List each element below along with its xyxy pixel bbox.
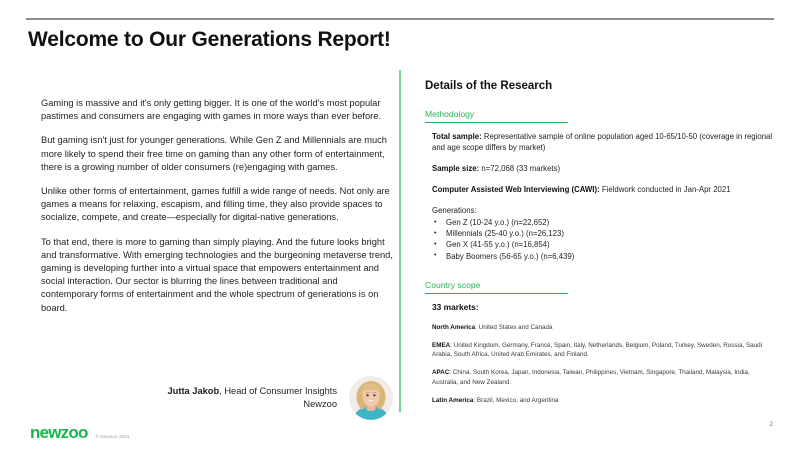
total-sample-label: Total sample:: [432, 132, 482, 141]
intro-paragraph: But gaming isn't just for younger genera…: [41, 134, 393, 174]
generations-title: Generations:: [432, 205, 775, 216]
sample-size-label: Sample size:: [432, 164, 479, 173]
intro-paragraph: Gaming is massive and it's only getting …: [41, 97, 393, 123]
header-divider-rule: [26, 18, 774, 20]
newzoo-logo: newzoo © Newzoo 2021: [30, 424, 130, 441]
author-name: Jutta Jakob: [168, 386, 220, 396]
avatar: [349, 376, 393, 420]
list-item: Baby Boomers (56-65 y.o.) (n=6,439): [432, 251, 775, 262]
region-row: Latin America: Brazil, Mexico, and Argen…: [432, 396, 775, 405]
region-name: APAC: [432, 369, 449, 376]
copyright-notice: © Newzoo 2021: [96, 434, 130, 439]
intro-text-column: Gaming is massive and it's only getting …: [41, 97, 393, 315]
methodology-body: Total sample: Representative sample of o…: [425, 131, 775, 262]
region-countries: United Kingdom, Germany, France, Spain, …: [432, 342, 762, 358]
generations-list: Gen Z (10-24 y.o.) (n=22,652) Millennial…: [432, 217, 775, 262]
methodology-label: Methodology: [425, 109, 568, 123]
region-row: EMEA: United Kingdom, Germany, France, S…: [432, 341, 775, 359]
list-item: Millennials (25-40 y.o.) (n=26,123): [432, 228, 775, 239]
region-countries: Brazil, Mexico, and Argentina: [477, 397, 559, 404]
logo-wordmark: newzoo: [30, 424, 88, 441]
country-scope-body: 33 markets: North America: United States…: [425, 302, 775, 405]
region-name: North America: [432, 324, 475, 331]
total-sample-fact: Total sample: Representative sample of o…: [432, 131, 775, 153]
author-role: , Head of Consumer Insights: [219, 386, 337, 396]
markets-count: 33 markets:: [432, 302, 775, 312]
region-name: EMEA: [432, 342, 450, 349]
country-scope-label: Country scope: [425, 280, 568, 294]
research-details-column: Details of the Research Methodology Tota…: [425, 80, 775, 405]
region-name: Latin America: [432, 397, 473, 404]
region-row: North America: United States and Canada: [432, 323, 775, 332]
author-attribution: Jutta Jakob, Head of Consumer Insights N…: [41, 376, 393, 420]
page-number: 2: [769, 421, 773, 428]
methodology-section: Methodology Total sample: Representative…: [425, 109, 775, 262]
cawi-label: Computer Assisted Web Interviewing (CAWI…: [432, 185, 600, 194]
list-item: Gen Z (10-24 y.o.) (n=22,652): [432, 217, 775, 228]
column-divider: [399, 70, 401, 412]
total-sample-value: Representative sample of online populati…: [432, 132, 772, 152]
cawi-value: Fieldwork conducted in Jan-Apr 2021: [600, 185, 731, 194]
research-heading: Details of the Research: [425, 80, 775, 92]
region-countries: China, South Korea, Japan, Indonesia, Ta…: [432, 369, 750, 385]
region-row: APAC: China, South Korea, Japan, Indones…: [432, 368, 775, 386]
cawi-fact: Computer Assisted Web Interviewing (CAWI…: [432, 184, 775, 195]
author-text: Jutta Jakob, Head of Consumer Insights N…: [168, 385, 338, 411]
intro-paragraph: Unlike other forms of entertainment, gam…: [41, 185, 393, 225]
sample-size-fact: Sample size: n=72,068 (33 markets): [432, 163, 775, 174]
sample-size-value: n=72,068 (33 markets): [479, 164, 560, 173]
region-countries: United States and Canada: [479, 324, 553, 331]
country-scope-section: Country scope 33 markets: North America:…: [425, 280, 775, 405]
intro-paragraph: To that end, there is more to gaming tha…: [41, 236, 393, 315]
list-item: Gen X (41-55 y.o.) (n=16,854): [432, 239, 775, 250]
author-company: Newzoo: [303, 399, 337, 409]
page-title: Welcome to Our Generations Report!: [28, 28, 391, 52]
